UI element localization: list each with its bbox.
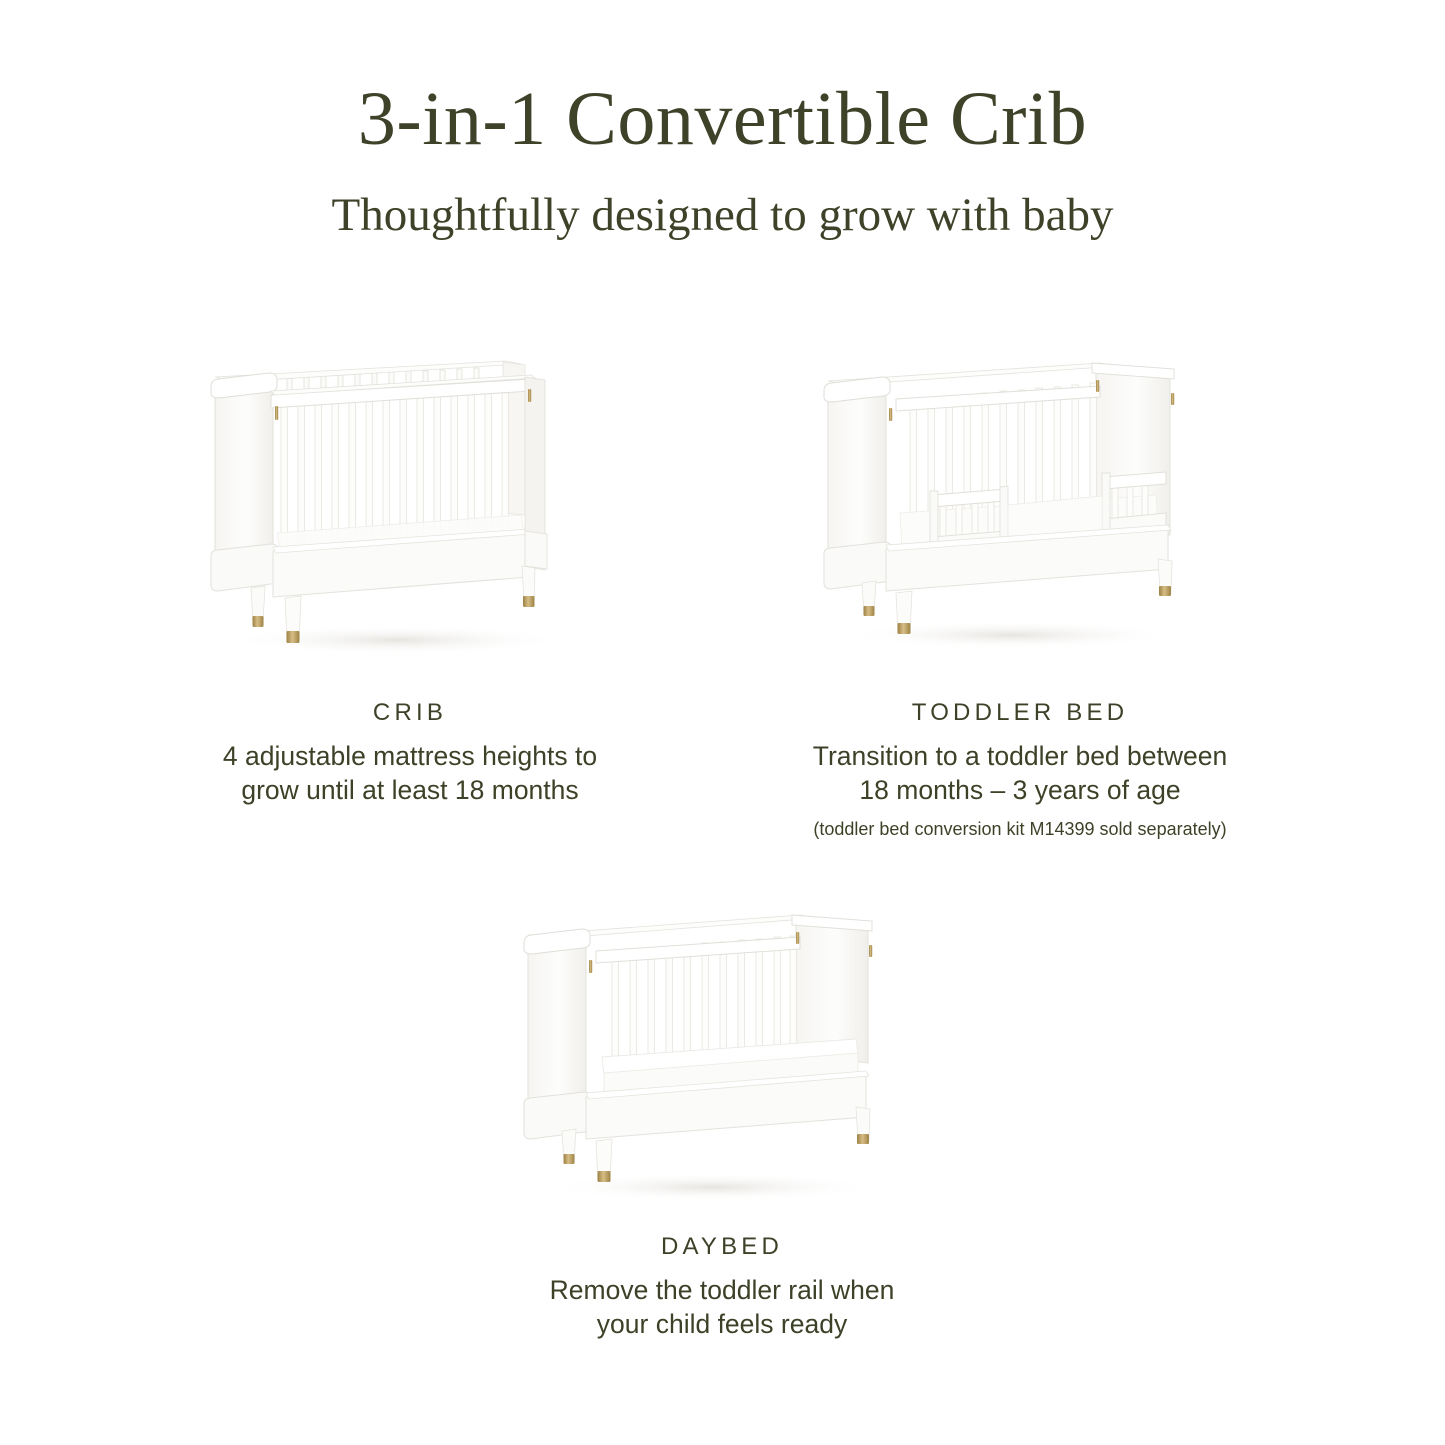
mode-description-toddler-bed: Transition to a toddler bed between 18 m… [710, 739, 1330, 807]
brass-foot-cap [523, 596, 535, 607]
brass-foot-cap [864, 606, 875, 616]
brass-post-accent [1096, 380, 1099, 392]
brass-foot-cap [253, 616, 264, 627]
mode-description-line: Remove the toddler rail when [412, 1273, 1032, 1307]
floor-shadow [227, 625, 567, 655]
mode-description-line: Transition to a toddler bed between [710, 739, 1330, 773]
left-end-panel [824, 377, 891, 589]
caption-daybed: DAYBED Remove the toddler rail when your… [412, 1232, 1032, 1341]
brass-post-accent [796, 932, 799, 944]
mode-description-line: grow until at least 18 months [100, 773, 720, 807]
brass-foot-cap [1159, 586, 1171, 596]
left-end-panel [524, 929, 591, 1139]
page-subtitle: Thoughtfully designed to grow with baby [0, 187, 1445, 243]
brass-post-accent [1171, 393, 1174, 405]
page-title: 3-in-1 Convertible Crib [0, 76, 1445, 162]
brass-post-accent [889, 408, 892, 421]
floor-shadow [844, 621, 1180, 649]
back-slat-rail [596, 936, 800, 1061]
brass-foot-cap [898, 623, 911, 634]
brass-foot-cap [564, 1154, 575, 1164]
brass-foot-cap [287, 631, 300, 643]
mode-description-line: 4 adjustable mattress heights to [100, 739, 720, 773]
mode-description-daybed: Remove the toddler rail when your child … [412, 1273, 1032, 1341]
mode-description-line: 18 months – 3 years of age [710, 773, 1330, 807]
conversion-kit-disclaimer: (toddler bed conversion kit M14399 sold … [710, 816, 1330, 842]
mode-label-toddler-bed: TODDLER BED [710, 698, 1330, 728]
brass-post-accent [528, 389, 531, 402]
caption-toddler-bed: TODDLER BED Transition to a toddler bed … [710, 698, 1330, 842]
mode-description-crib: 4 adjustable mattress heights to grow un… [100, 739, 720, 807]
brass-foot-cap [857, 1134, 869, 1144]
caption-crib: CRIB 4 adjustable mattress heights to gr… [100, 698, 720, 807]
floor-shadow [544, 1173, 880, 1201]
mode-description-line: your child feels ready [412, 1307, 1032, 1341]
daybed-product-photo [500, 905, 925, 1215]
left-end-panel [211, 373, 278, 591]
crib-product-photo [185, 355, 610, 665]
brass-post-accent [275, 406, 278, 420]
product-feature-page: 3-in-1 Convertible Crib Thoughtfully des… [0, 0, 1445, 1445]
toddler-bed-product-photo [800, 355, 1225, 665]
brass-foot-cap [598, 1171, 611, 1182]
brass-post-accent [869, 945, 872, 957]
mode-label-daybed: DAYBED [412, 1232, 1032, 1262]
brass-post-accent [589, 960, 592, 973]
mode-label-crib: CRIB [100, 698, 720, 728]
